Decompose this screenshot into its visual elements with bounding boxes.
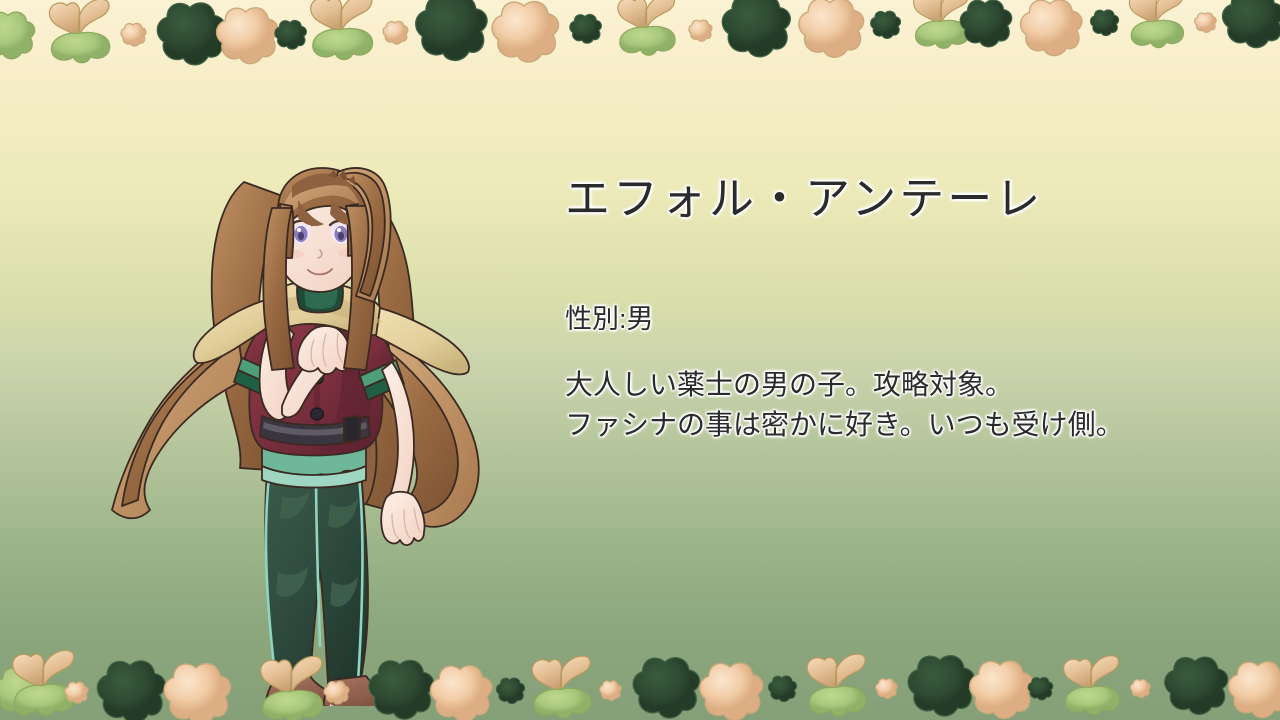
clover-group (0, 0, 1280, 65)
character-profile-screen: エフォル・アンテーレ 性別:男 大人しい薬士の男の子。攻略対象。 ファシナの事は… (0, 0, 1280, 720)
description-line-1: 大人しい薬士の男の子。攻略対象。 (565, 365, 1124, 405)
description-line-2: ファシナの事は密かに好き。いつも受け側。 (565, 405, 1124, 445)
character-info-panel: エフォル・アンテーレ 性別:男 大人しい薬士の男の子。攻略対象。 ファシナの事は… (565, 172, 1205, 225)
character-name: エフォル・アンテーレ (565, 172, 1205, 225)
top-clover-svg (0, 0, 1280, 80)
character-description: 大人しい薬士の男の子。攻略対象。 ファシナの事は密かに好き。いつも受け側。 (565, 365, 1124, 445)
character-gender: 性別:男 (565, 297, 654, 336)
top-clover-border (0, 0, 1280, 80)
character-portrait (92, 86, 512, 706)
character-illustration (92, 86, 512, 706)
